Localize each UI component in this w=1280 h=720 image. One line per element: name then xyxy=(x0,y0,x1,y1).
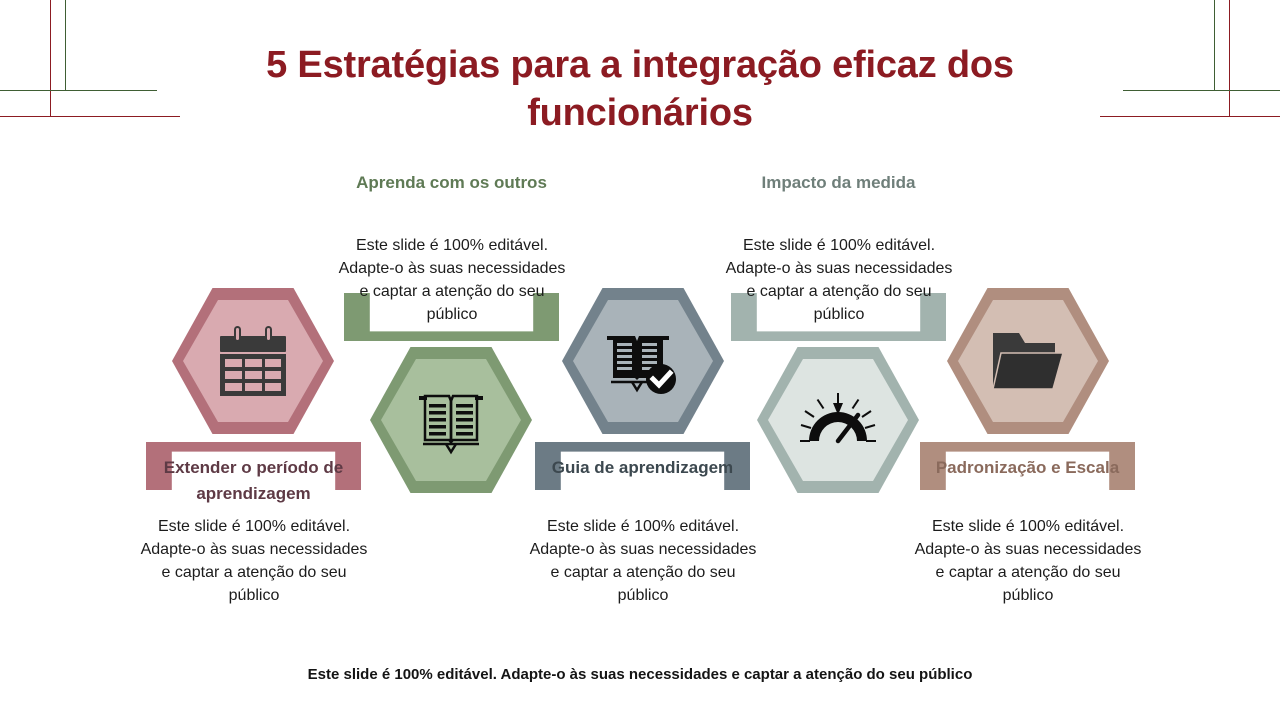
item-2-label: Aprenda com os outros xyxy=(344,171,559,195)
footer-note: Este slide é 100% editável. Adapte-o às … xyxy=(0,666,1280,683)
item-2-body: Este slide é 100% editável. Adapte-o às … xyxy=(336,234,568,326)
item-1-body: Este slide é 100% editável. Adapte-o às … xyxy=(138,515,370,607)
deco-top-left-red-horizontal xyxy=(0,116,180,117)
item-5-body: Este slide é 100% editável. Adapte-o às … xyxy=(912,515,1144,607)
book-check-icon xyxy=(562,288,724,434)
calendar-icon xyxy=(172,288,334,434)
slide-canvas: 5 Estratégias para a integração eficaz d… xyxy=(0,0,1280,720)
item-4-body: Este slide é 100% editável. Adapte-o às … xyxy=(723,234,955,326)
item-5-label: Padronização e Escala xyxy=(920,455,1135,481)
item-1-label: Extender o período de aprendizagem xyxy=(146,455,361,506)
item-1-hexagon[interactable] xyxy=(172,288,334,434)
deco-top-right-green-horizontal xyxy=(1123,90,1280,91)
deco-top-left-red-vertical xyxy=(50,0,51,117)
deco-top-right-red-vertical xyxy=(1229,0,1230,117)
item-2-hexagon[interactable] xyxy=(370,347,532,493)
item-3-hexagon[interactable] xyxy=(562,288,724,434)
page-title: 5 Estratégias para a integração eficaz d… xyxy=(180,42,1100,137)
deco-top-right-red-horizontal xyxy=(1100,116,1280,117)
deco-top-left-green-vertical xyxy=(65,0,66,91)
deco-top-right-green-vertical xyxy=(1214,0,1215,91)
deco-top-left-green-horizontal xyxy=(0,90,157,91)
item-3-label: Guia de aprendizagem xyxy=(535,455,750,481)
open-book-icon xyxy=(370,347,532,493)
folder-icon xyxy=(947,288,1109,434)
gauge-icon xyxy=(757,347,919,493)
item-3-body: Este slide é 100% editável. Adapte-o às … xyxy=(527,515,759,607)
item-4-hexagon[interactable] xyxy=(757,347,919,493)
item-4-label: Impacto da medida xyxy=(731,171,946,195)
item-5-hexagon[interactable] xyxy=(947,288,1109,434)
